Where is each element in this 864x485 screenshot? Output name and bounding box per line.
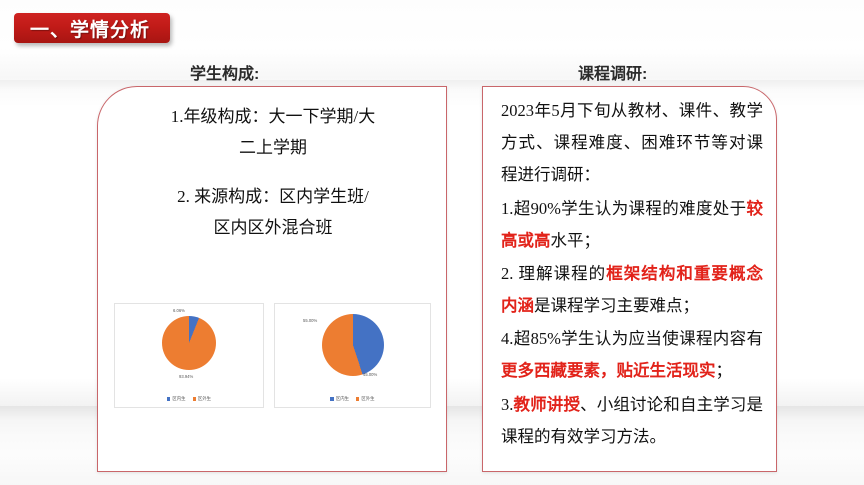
item-1-line-2: 二上学期 [98, 132, 448, 163]
pie-chart-2: 55.00% 45.00% 区内生 区外生 [274, 303, 431, 408]
pie-1-legend-label-blue: 区内生 [172, 396, 185, 402]
point-1-prefix: 1.超90%学生认为课程的难度处于 [501, 199, 747, 218]
student-composition-item-1: 1.年级构成：大一下学期/大 二上学期 [98, 101, 448, 164]
legend-swatch-blue-icon [330, 397, 333, 400]
pie-2-label-orange: 55.00% [303, 318, 317, 323]
pie-1-legend: 区内生 区外生 [115, 396, 263, 402]
item-2-line-2: 区内区外混合班 [98, 212, 448, 243]
point-3-prefix: 4.超85%学生认为应当使课程内容有 [501, 329, 763, 348]
pie-1-legend-item-blue: 区内生 [167, 396, 186, 402]
pie-2-legend-label-orange: 区外生 [361, 396, 374, 402]
pie-1-legend-label-orange: 区外生 [198, 396, 211, 402]
legend-swatch-orange-icon [193, 397, 196, 400]
pie-2-label-blue: 45.00% [363, 372, 377, 377]
point-4-prefix: 3. [501, 395, 513, 414]
legend-swatch-orange-icon [356, 397, 359, 400]
survey-point-2: 2. 理解课程的框架结构和重要概念内涵是课程学习主要难点； [501, 258, 763, 322]
course-survey-body: 2023年5月下旬从教材、课件、教学方式、课程难度、困难环节等对课程进行调研： … [501, 95, 763, 454]
point-1-suffix: 水平； [551, 231, 601, 250]
left-column-header: 学生构成: [190, 60, 259, 84]
survey-point-1: 1.超90%学生认为课程的难度处于较高或高水平； [501, 193, 763, 257]
survey-intro: 2023年5月下旬从教材、课件、教学方式、课程难度、困难环节等对课程进行调研： [501, 95, 763, 192]
survey-point-3: 4.超85%学生认为应当使课程内容有更多西藏要素，贴近生活现实； [501, 323, 763, 387]
course-survey-card: 2023年5月下旬从教材、课件、教学方式、课程难度、困难环节等对课程进行调研： … [482, 86, 777, 472]
pie-1-label-orange: 93.94% [179, 374, 193, 379]
section-title-banner: 一、学情分析 [14, 13, 170, 43]
pie-2-legend-label-blue: 区内生 [336, 396, 349, 402]
legend-swatch-blue-icon [167, 397, 170, 400]
pie-2-legend: 区内生 区外生 [275, 396, 430, 402]
right-column-header: 课程调研: [578, 60, 647, 84]
survey-point-4: 3.教师讲授、小组讨论和自主学习是课程的有效学习方法。 [501, 389, 763, 453]
point-3-suffix: ； [716, 361, 733, 380]
pie-1-legend-item-orange: 区外生 [193, 396, 212, 402]
section-title-text: 一、学情分析 [30, 15, 150, 42]
pie-1-label-blue: 6.06% [173, 308, 185, 313]
pie-2-legend-item-orange: 区外生 [356, 396, 375, 402]
student-composition-item-2: 2. 来源构成：区内学生班/ 区内区外混合班 [98, 181, 448, 244]
point-4-emphasis: 教师讲授 [513, 395, 580, 414]
item-2-line-1: 2. 来源构成：区内学生班/ [98, 181, 448, 212]
pie-2-legend-item-blue: 区内生 [330, 396, 349, 402]
point-2-suffix: 是课程学习主要难点； [534, 296, 699, 315]
pie-chart-1: 6.06% 93.94% 区内生 区外生 [114, 303, 264, 408]
point-2-prefix: 2. 理解课程的 [501, 264, 606, 283]
pie-2-slices [322, 314, 384, 376]
pie-chart-row: 6.06% 93.94% 区内生 区外生 55.00% 45.00% [114, 303, 431, 408]
pie-1-slices [162, 316, 216, 370]
item-1-line-1: 1.年级构成：大一下学期/大 [98, 101, 448, 132]
point-3-emphasis: 更多西藏要素，贴近生活现实 [501, 361, 716, 380]
student-composition-card: 1.年级构成：大一下学期/大 二上学期 2. 来源构成：区内学生班/ 区内区外混… [97, 86, 447, 472]
